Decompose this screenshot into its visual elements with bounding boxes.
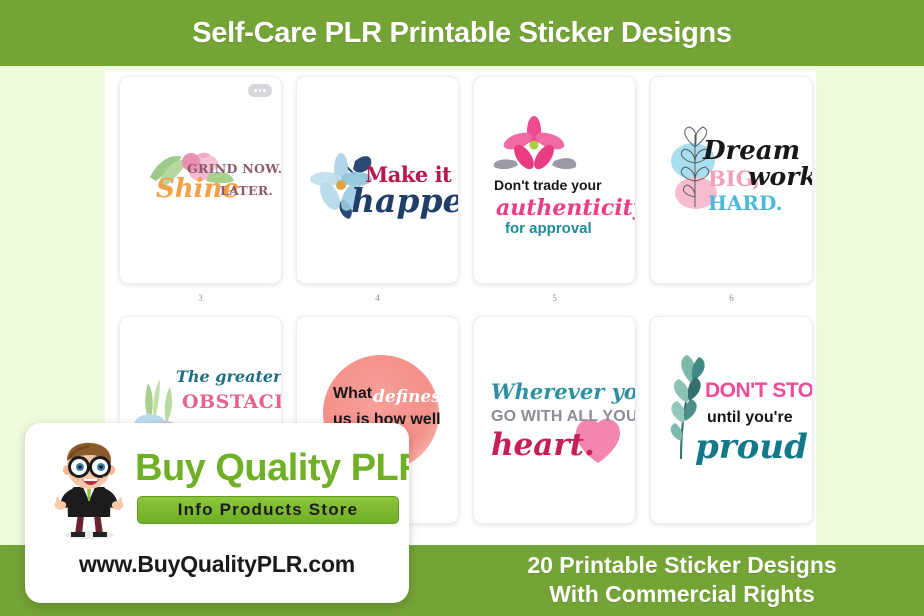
mascot-character-icon bbox=[47, 439, 131, 539]
card-surface[interactable]: DON'T STOP until you're proud bbox=[650, 316, 813, 524]
logo-row: Buy Quality PLR Info Products Store bbox=[25, 433, 409, 538]
footer-line-2: With Commercial Rights bbox=[440, 580, 924, 609]
sticker-line: What bbox=[333, 385, 372, 403]
brand-logo-card: Buy Quality PLR Info Products Store www.… bbox=[25, 423, 409, 603]
footer-caption: 20 Printable Sticker Designs With Commer… bbox=[440, 551, 924, 609]
sticker-line: work bbox=[748, 162, 813, 191]
sticker-line: happen bbox=[351, 181, 459, 220]
dot-icon bbox=[263, 89, 266, 92]
sticker-line: proud bbox=[695, 427, 808, 467]
card-surface[interactable]: Wherever you go GO WITH ALL YOUR heart. bbox=[473, 316, 636, 524]
sticker-card-3[interactable]: GRIND NOW. Shine LATER. 3 bbox=[119, 76, 282, 303]
card-number-label: 6 bbox=[650, 293, 813, 303]
header-bar: Self-Care PLR Printable Sticker Designs bbox=[0, 0, 924, 66]
sticker-line: The greater the bbox=[176, 367, 282, 386]
sticker-art-make-it-happen: Make it happen bbox=[297, 77, 459, 284]
brand-tagline: Info Products Store bbox=[178, 500, 359, 520]
promo-graphic: Self-Care PLR Printable Sticker Designs bbox=[0, 0, 924, 616]
brand-url: www.BuyQualityPLR.com bbox=[25, 551, 409, 578]
sticker-line: DON'T STOP bbox=[705, 379, 813, 403]
brand-tagline-pill: Info Products Store bbox=[137, 496, 399, 524]
sticker-art-grind-now: GRIND NOW. Shine LATER. bbox=[120, 77, 282, 284]
dot-icon bbox=[254, 89, 257, 92]
sticker-line: HARD. bbox=[708, 191, 783, 215]
sticker-line: defines bbox=[373, 387, 441, 407]
sticker-line: Don't trade your bbox=[494, 177, 602, 193]
sticker-card-5[interactable]: Don't trade your authenticity for approv… bbox=[473, 76, 636, 303]
sticker-card-4[interactable]: Make it happen 4 bbox=[296, 76, 459, 303]
sticker-line: Wherever you go bbox=[491, 379, 636, 404]
card-number-label: 3 bbox=[119, 293, 282, 303]
page-title: Self-Care PLR Printable Sticker Designs bbox=[192, 17, 732, 50]
sticker-card-dont-stop[interactable]: DON'T STOP until you're proud bbox=[650, 316, 813, 533]
sticker-art-dont-stop: DON'T STOP until you're proud bbox=[651, 317, 813, 524]
card-surface[interactable]: Make it happen bbox=[296, 76, 459, 284]
card-surface[interactable]: GRIND NOW. Shine LATER. bbox=[119, 76, 282, 284]
brand-wordmark: Buy Quality PLR bbox=[135, 447, 409, 490]
sticker-line: authenticity bbox=[496, 195, 636, 221]
card-number-label: 5 bbox=[473, 293, 636, 303]
sticker-art-dream-big: Dream BIG, work HARD. bbox=[651, 77, 813, 284]
sticker-card-wherever-you-go[interactable]: Wherever you go GO WITH ALL YOUR heart. bbox=[473, 316, 636, 533]
sticker-line: until you're bbox=[707, 409, 793, 427]
footer-line-1: 20 Printable Sticker Designs bbox=[440, 551, 924, 580]
sticker-line: LATER. bbox=[220, 183, 273, 198]
sticker-line: for approval bbox=[505, 220, 592, 237]
sticker-line: OBSTACLE bbox=[182, 391, 282, 413]
sticker-line: GO WITH ALL YOUR bbox=[491, 408, 636, 426]
sticker-card-6[interactable]: Dream BIG, work HARD. 6 bbox=[650, 76, 813, 303]
card-number-label: 4 bbox=[296, 293, 459, 303]
sticker-art-wherever-you-go: Wherever you go GO WITH ALL YOUR heart. bbox=[474, 317, 636, 524]
sticker-art-authenticity: Don't trade your authenticity for approv… bbox=[474, 77, 636, 284]
sticker-line: heart. bbox=[491, 427, 595, 463]
card-surface[interactable]: Don't trade your authenticity for approv… bbox=[473, 76, 636, 284]
dot-icon bbox=[259, 89, 262, 92]
more-options-button[interactable] bbox=[248, 84, 272, 97]
card-surface[interactable]: Dream BIG, work HARD. bbox=[650, 76, 813, 284]
